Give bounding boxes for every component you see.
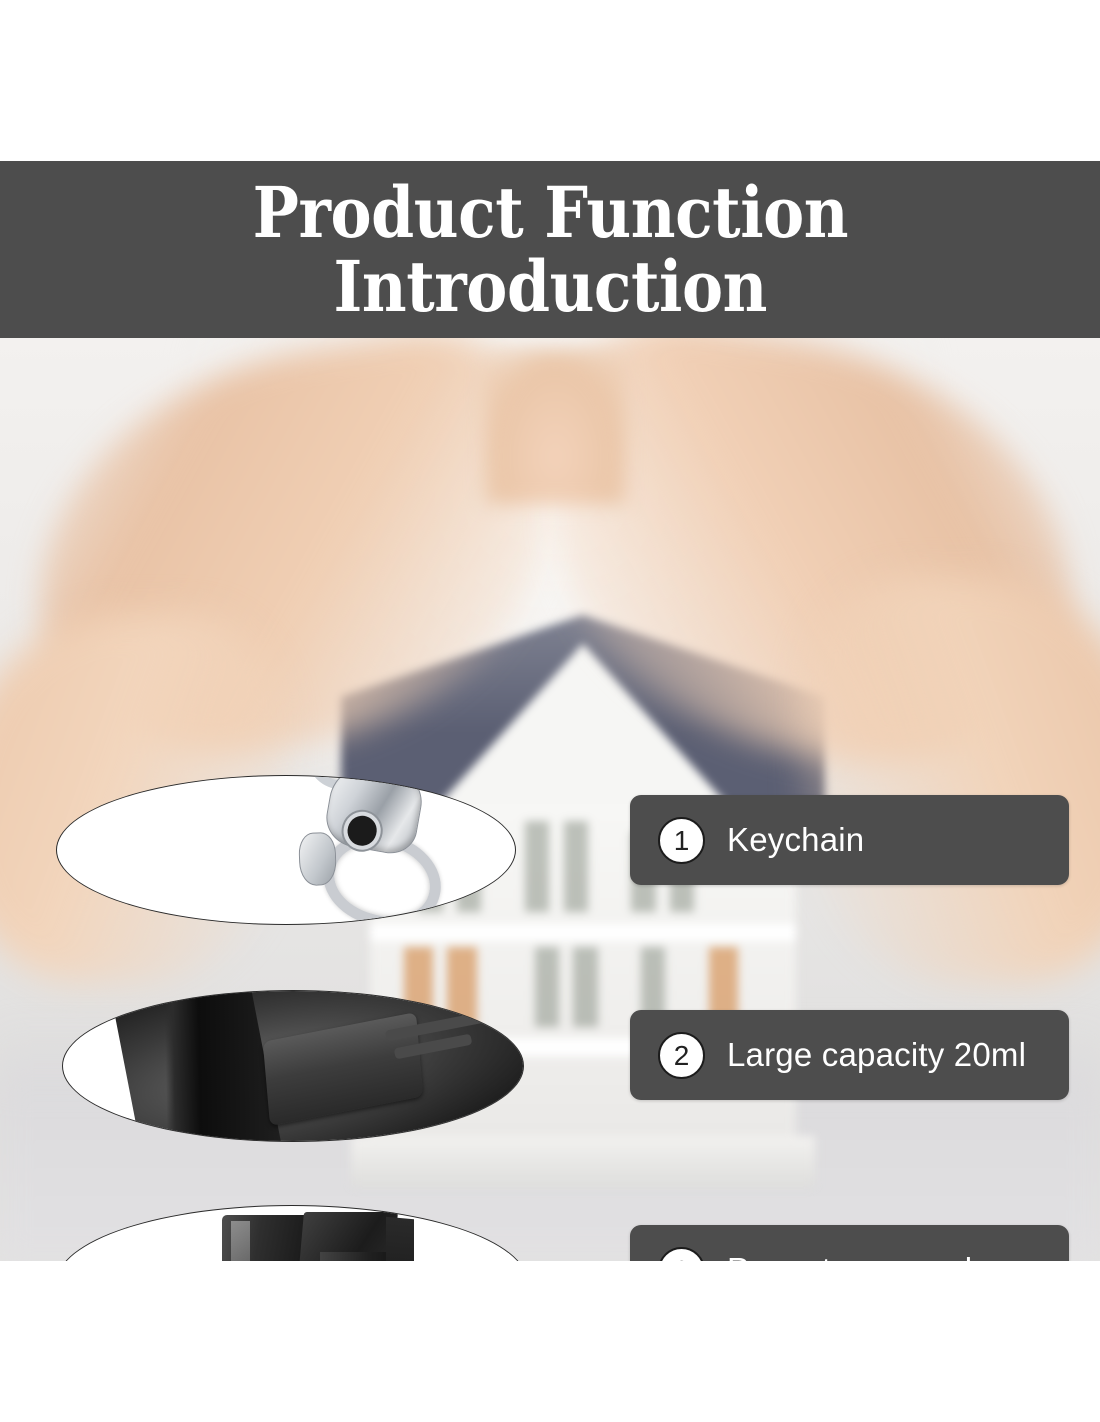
feature-number-badge: 3 (658, 1247, 705, 1262)
house-window (535, 947, 559, 1027)
bottle-body-closeup (63, 991, 523, 1141)
title-banner: Product Function Introduction (0, 161, 1100, 338)
feature-number-badge: 1 (658, 817, 705, 864)
feature-label-keychain: 1 Keychain (630, 795, 1069, 885)
product-infographic: Product Function Introduction (0, 0, 1100, 1422)
clasp-gate-lever (297, 832, 335, 887)
photo-stage: 1 Keychain 2 Large capacity 20ml 3 Press… (0, 338, 1100, 1261)
house-window (573, 947, 597, 1027)
house-trim-band (370, 924, 796, 941)
feature-label-text: Large capacity 20ml (727, 1036, 1026, 1074)
lobster-clasp-graphic (248, 775, 516, 925)
bottle-body-edge (71, 990, 286, 1142)
fingertips-apex-blur (484, 347, 627, 504)
feature-label-text: Press type nozzle (727, 1251, 991, 1261)
page-title-line-1: Product Function (252, 176, 848, 250)
callout-oval-nozzle (56, 1205, 528, 1261)
house-porch (351, 1136, 816, 1188)
feature-label-capacity: 2 Large capacity 20ml (630, 1010, 1069, 1100)
house-window (564, 821, 588, 913)
nozzle-fin (386, 1217, 414, 1261)
feature-label-text: Keychain (727, 821, 864, 859)
press-nozzle-closeup (57, 1206, 527, 1261)
right-forearm-blur (803, 578, 1100, 984)
nozzle-highlight (231, 1221, 250, 1261)
callout-oval-keychain (56, 775, 516, 925)
feature-label-nozzle: 3 Press type nozzle (630, 1225, 1069, 1261)
callout-oval-capacity (62, 990, 524, 1142)
house-window (525, 821, 549, 913)
page-title-line-2: Introduction (333, 250, 766, 324)
feature-number-badge: 2 (658, 1032, 705, 1079)
keychain-clasp-icon (57, 776, 515, 924)
